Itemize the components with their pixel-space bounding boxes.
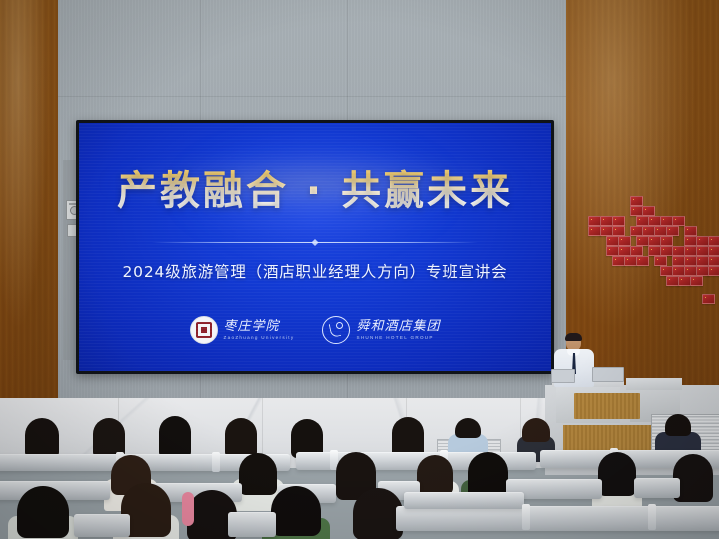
wall-panel-seam xyxy=(0,96,566,97)
slide-subtitle: 2024级旅游管理（酒店职业经理人方向）专班宣讲会 xyxy=(123,260,508,282)
logo-text-block: 舜和酒店集团 SHUNHE HOTEL GROUP xyxy=(356,320,440,341)
audience-person xyxy=(14,486,72,539)
logo-shunhe-hotel-group: 舜和酒店集团 SHUNHE HOTEL GROUP xyxy=(322,316,440,344)
logo-label-en: SHUNHE HOTEL GROUP xyxy=(356,336,440,341)
podium-laptop-left[interactable] xyxy=(551,369,575,383)
led-presentation-screen[interactable]: 产教融合 · 共赢未来 2024级旅游管理（酒店职业经理人方向）专班宣讲会 枣庄… xyxy=(79,123,551,371)
slide-logo-row: 枣庄学院 ZaoZhuang University 舜和酒店集团 SHUNHE … xyxy=(190,316,441,344)
presenter-hair xyxy=(565,333,582,341)
auditorium-seat-row[interactable] xyxy=(634,478,680,498)
slide-divider xyxy=(152,242,478,243)
seat-divider xyxy=(212,452,220,472)
seat-divider xyxy=(648,504,656,530)
audience-person xyxy=(596,452,638,506)
wood-slat-panel-left xyxy=(0,0,58,400)
side-desk-top xyxy=(626,378,682,390)
logo-zaozhuang-university: 枣庄学院 ZaoZhuang University xyxy=(190,316,295,344)
hotel-group-emblem-icon xyxy=(322,316,350,344)
auditorium-seat-row[interactable] xyxy=(228,512,276,537)
auditorium-seat-row[interactable] xyxy=(396,506,719,531)
logo-label-en: ZaoZhuang University xyxy=(224,336,295,341)
auditorium-photo-scene: 产教融合 · 共赢未来 2024级旅游管理（酒店职业经理人方向）专班宣讲会 枣庄… xyxy=(0,0,719,539)
auditorium-seat-row[interactable] xyxy=(404,492,524,509)
slide-title: 产教融合 · 共赢未来 xyxy=(117,158,513,216)
presentation-slide: 产教融合 · 共赢未来 2024级旅游管理（酒店职业经理人方向）专班宣讲会 枣庄… xyxy=(79,123,551,371)
led-screen-frame: 产教融合 · 共赢未来 2024级旅游管理（酒店职业经理人方向）专班宣讲会 枣庄… xyxy=(76,120,554,374)
university-crest-icon xyxy=(190,316,218,344)
logo-text-block: 枣庄学院 ZaoZhuang University xyxy=(224,320,295,341)
auditorium-seat-row[interactable] xyxy=(74,514,130,537)
seat-divider xyxy=(522,504,530,530)
podium-wood-panel xyxy=(574,393,640,419)
slide-title-wrap: 产教融合 · 共赢未来 xyxy=(117,150,513,216)
audience-person xyxy=(268,486,324,539)
logo-label-cn: 舜和酒店集团 xyxy=(356,320,440,333)
logo-label-cn: 枣庄学院 xyxy=(224,320,295,333)
podium-laptop-right[interactable] xyxy=(592,367,624,382)
